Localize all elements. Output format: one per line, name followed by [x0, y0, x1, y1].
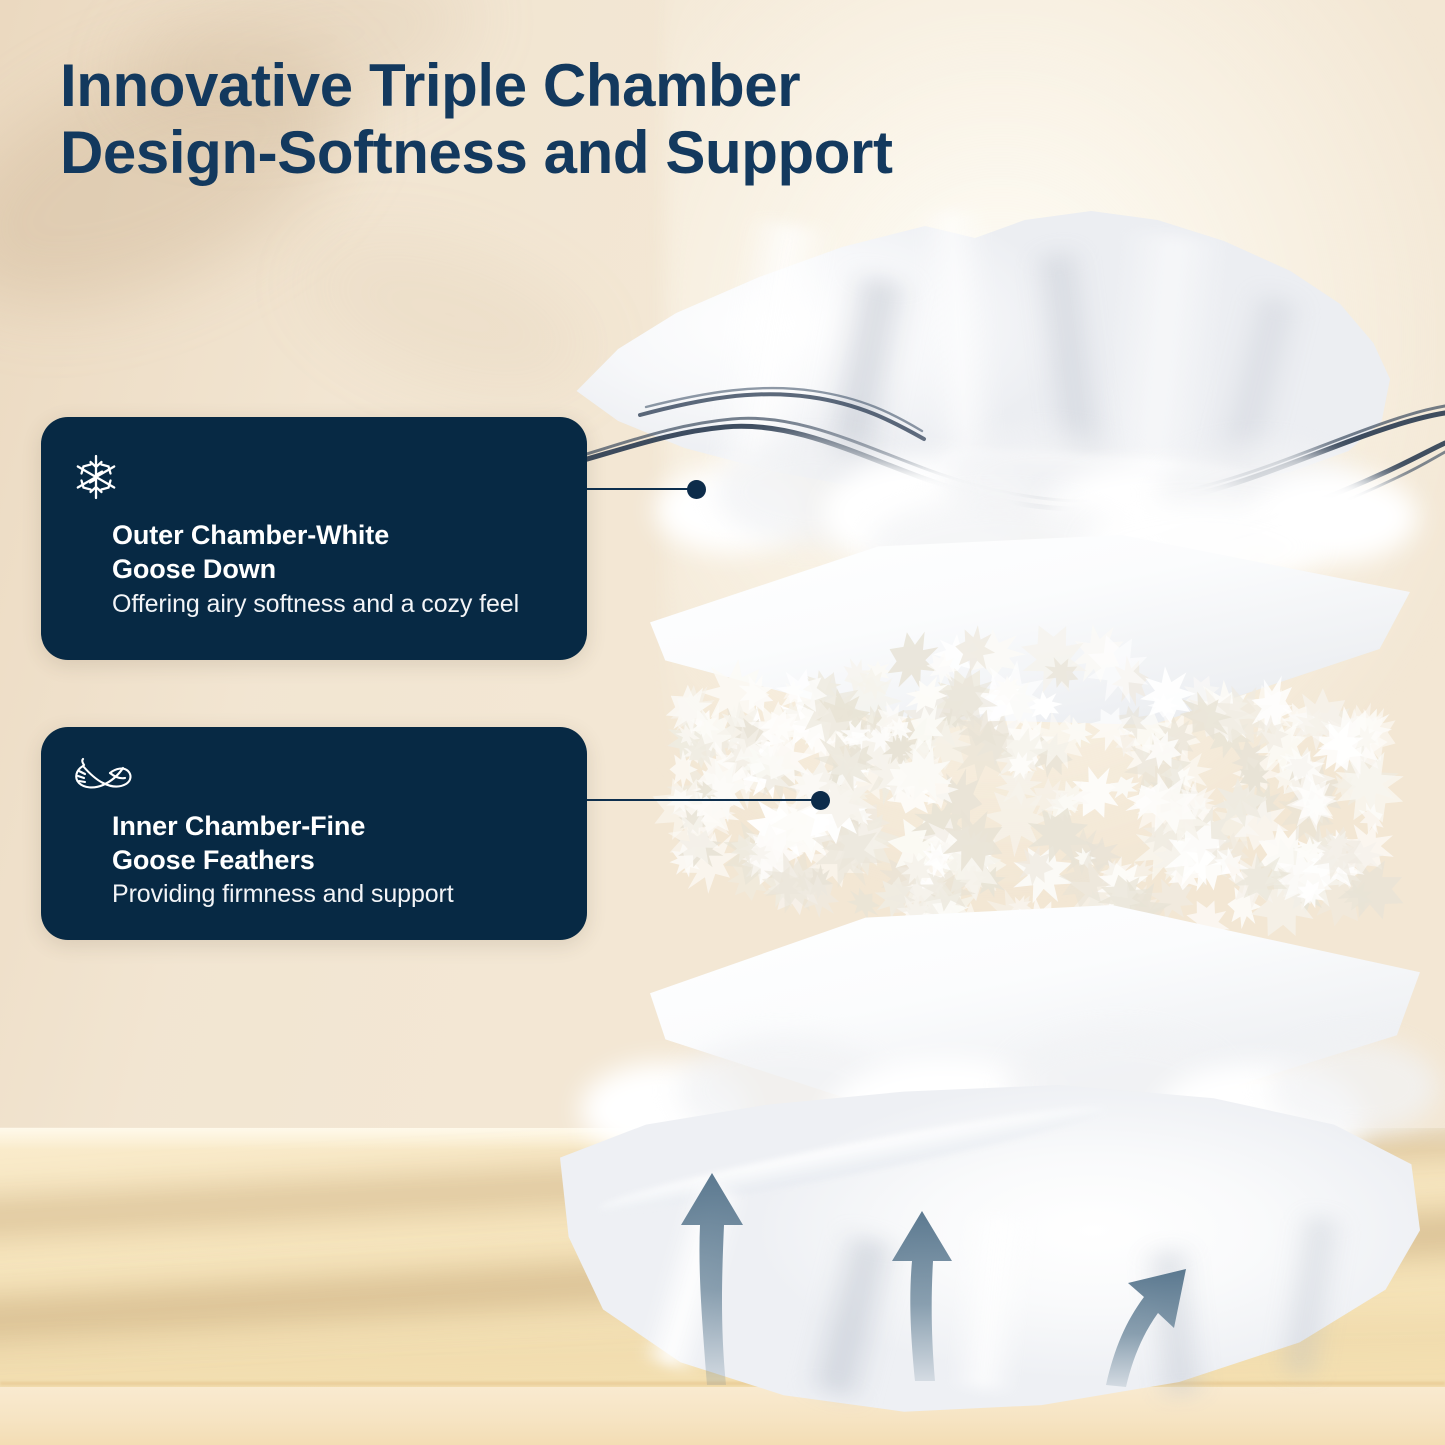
connector-line-outer-chamber — [587, 488, 689, 490]
airflow-arrows — [560, 1085, 1420, 1415]
feather-icon — [71, 757, 133, 801]
card-title-outer-chamber: Outer Chamber-White Goose Down — [112, 519, 389, 587]
connector-dot-outer-chamber — [687, 480, 706, 499]
infographic-canvas: Innovative Triple Chamber Design-Softnes… — [0, 0, 1445, 1445]
airflow-arrow-2 — [892, 1211, 952, 1381]
card-title-inner-chamber: Inner Chamber-Fine Goose Feathers — [112, 810, 365, 878]
airflow-arrow-1 — [681, 1173, 743, 1385]
page-title: Innovative Triple Chamber Design-Softnes… — [60, 52, 1070, 186]
card-description-inner-chamber: Providing firmness and support — [112, 878, 454, 911]
exploded-pillow-stack — [520, 205, 1445, 1445]
connector-dot-inner-chamber — [811, 791, 830, 810]
airflow-arrow-3 — [1106, 1269, 1186, 1387]
card-description-outer-chamber: Offering airy softness and a cozy feel — [112, 588, 519, 621]
snowflake-icon — [71, 452, 121, 502]
connector-line-inner-chamber — [587, 799, 813, 801]
